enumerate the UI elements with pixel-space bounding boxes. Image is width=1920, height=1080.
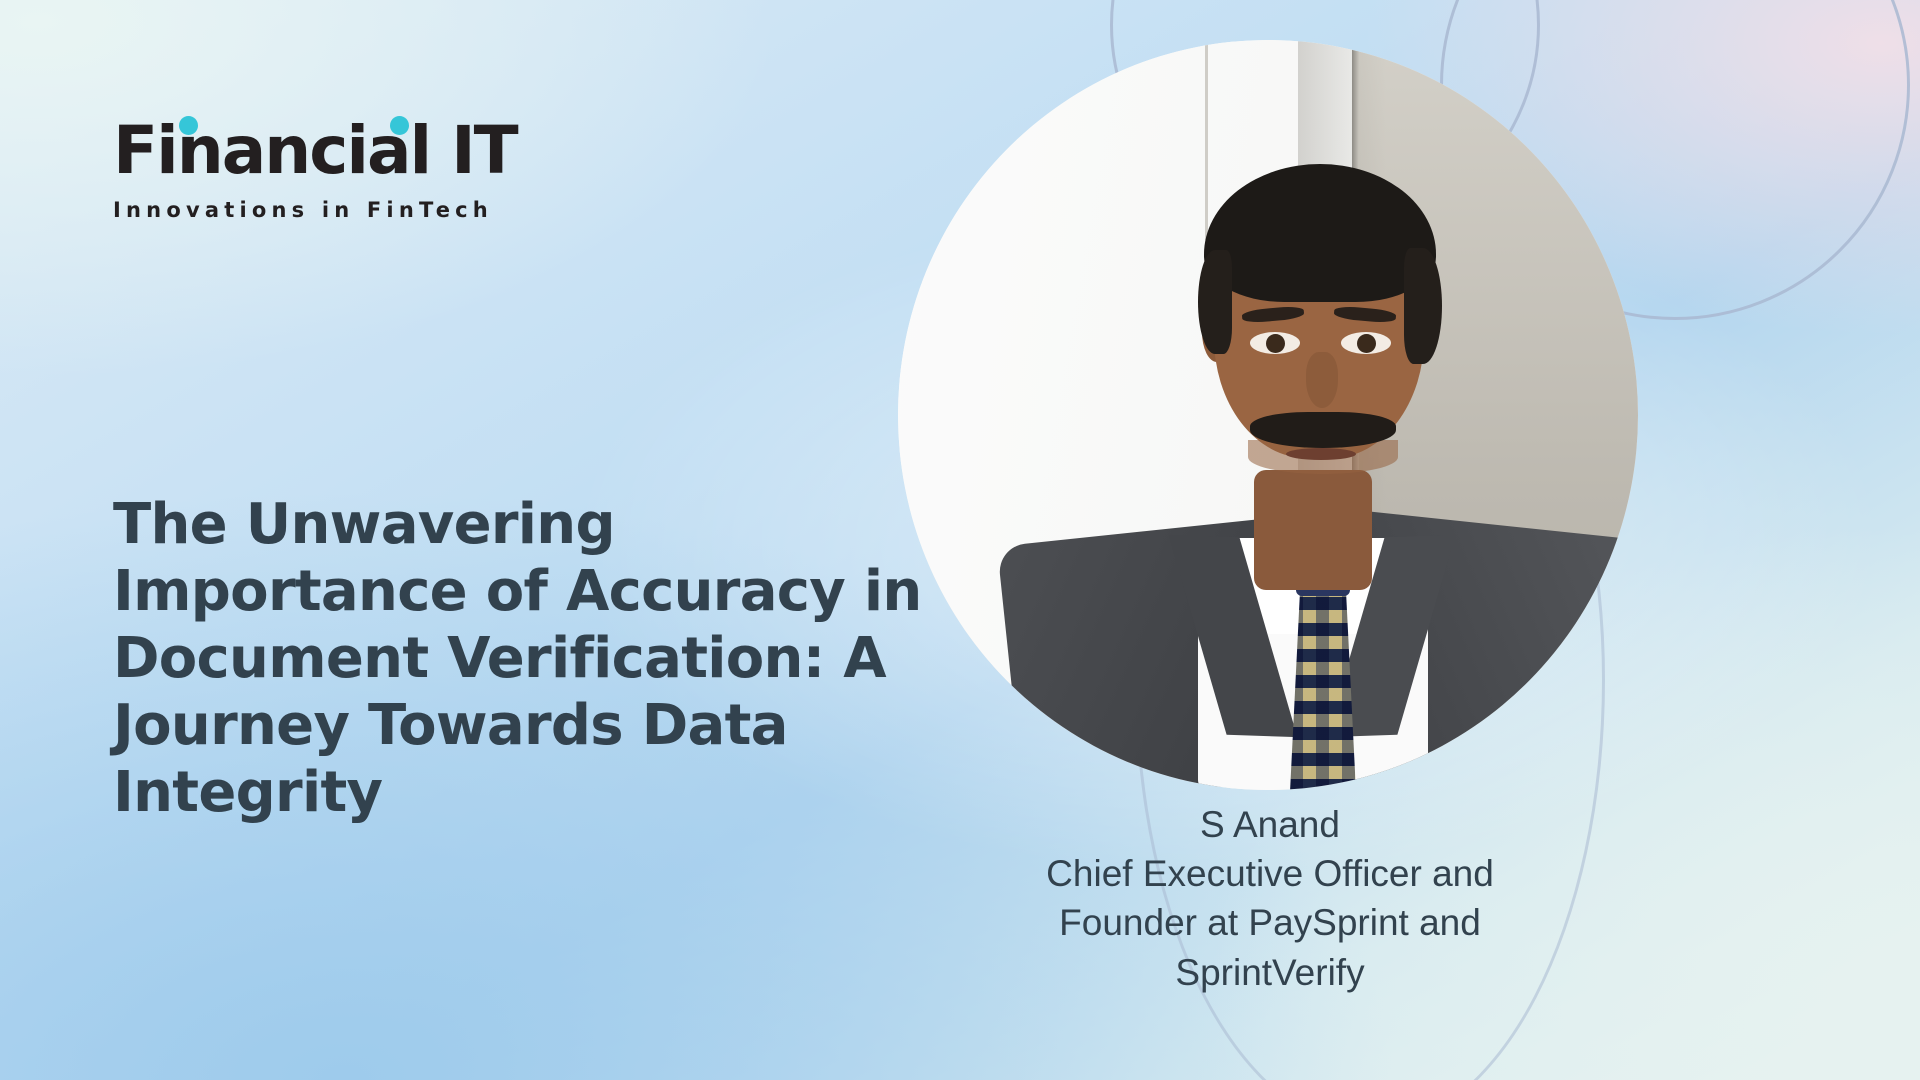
- portrait-mustache: [1250, 412, 1396, 448]
- logo-dot-icon: [179, 116, 198, 135]
- portrait-hair-side-left: [1198, 250, 1232, 354]
- speaker-portrait: [898, 40, 1638, 790]
- brand-logo-wordmark: Financial IT: [113, 118, 517, 184]
- speaker-title-line-3: SprintVerify: [900, 948, 1640, 997]
- brand-tagline: Innovations in FinTech: [113, 198, 517, 222]
- portrait-iris-left: [1266, 334, 1285, 353]
- speaker-info: S Anand Chief Executive Officer and Foun…: [900, 800, 1640, 997]
- portrait-necktie: [1290, 580, 1356, 790]
- portrait-iris-right: [1357, 334, 1376, 353]
- speaker-title-line-1: Chief Executive Officer and: [900, 849, 1640, 898]
- logo-dot-icon: [390, 116, 409, 135]
- portrait-hair-side-right: [1404, 248, 1442, 364]
- brand-logo[interactable]: Financial IT Innovations in FinTech: [113, 118, 517, 222]
- portrait-wall-cord: [1205, 40, 1208, 240]
- article-headline: The Unwavering Importance of Accuracy in…: [113, 492, 973, 827]
- portrait-neck: [1254, 470, 1372, 590]
- portrait-mouth: [1286, 448, 1356, 460]
- speaker-name: S Anand: [900, 800, 1640, 849]
- speaker-title-line-2: Founder at PaySprint and: [900, 898, 1640, 947]
- portrait-nose: [1306, 352, 1338, 408]
